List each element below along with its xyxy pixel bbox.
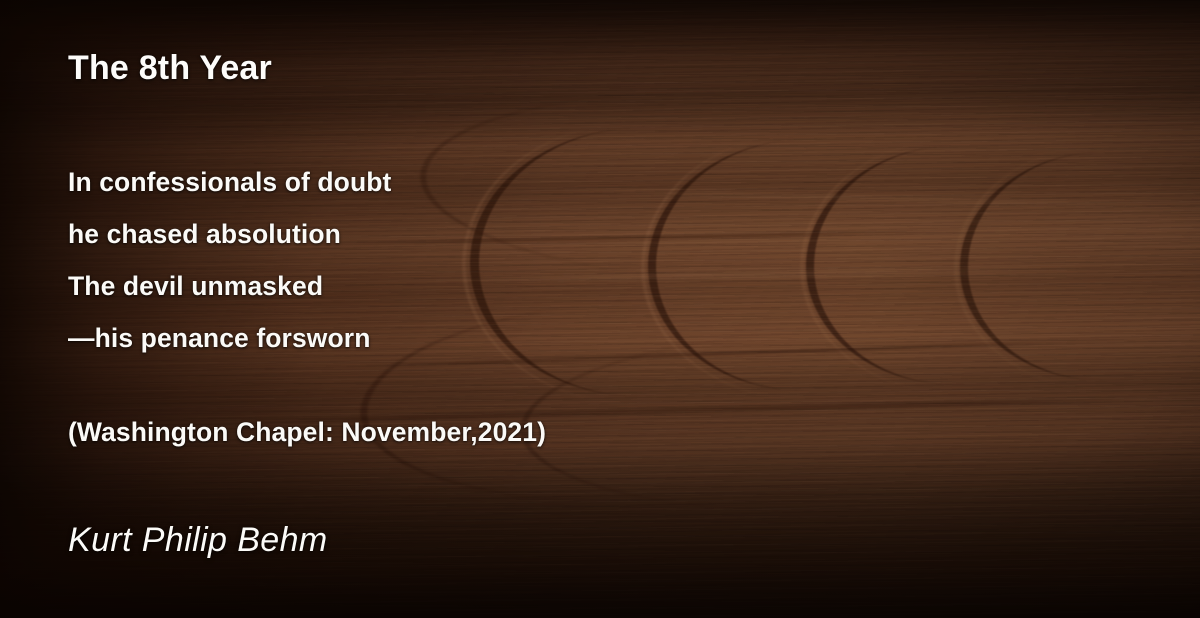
poem-body: In confessionals of doubt he chased abso… (68, 156, 391, 364)
poem-place-and-date: (Washington Chapel: November,2021) (68, 417, 546, 448)
poem-line: he chased absolution (68, 208, 391, 260)
poem-image-card: The 8th Year In confessionals of doubt h… (0, 0, 1200, 618)
page-title: The 8th Year (68, 49, 272, 88)
poem-author-signature: Kurt Philip Behm (68, 521, 328, 560)
poem-text-layer: The 8th Year In confessionals of doubt h… (0, 0, 1200, 618)
poem-line: In confessionals of doubt (68, 156, 391, 208)
poem-line: The devil unmasked (68, 260, 391, 312)
poem-line: —his penance forsworn (68, 312, 391, 364)
